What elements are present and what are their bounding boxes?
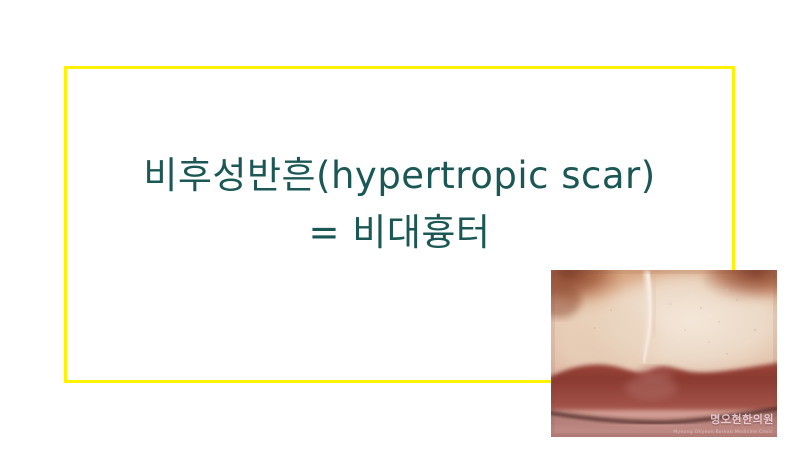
clinical-photo-image bbox=[551, 270, 777, 437]
title-line-korean-alias: = 비대흉터 bbox=[64, 209, 735, 258]
title-line-korean-english: 비후성반흔(hypertropic scar) bbox=[64, 152, 735, 201]
slide-canvas: 비후성반흔(hypertropic scar) = 비대흉터 bbox=[0, 0, 800, 450]
clinical-photo: 명오현한의원 Myeong Ohyeon Korean Medicine Cli… bbox=[551, 270, 777, 437]
page-title: 비후성반흔(hypertropic scar) = 비대흉터 bbox=[64, 152, 735, 258]
